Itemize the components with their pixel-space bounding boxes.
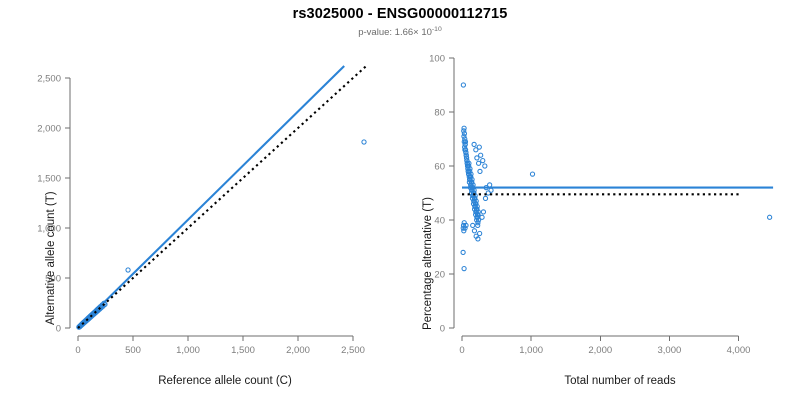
x-tick-label: 2,000 (286, 345, 310, 356)
scatter-points (77, 140, 366, 329)
left-x-axis-title: Reference allele count (C) (60, 375, 390, 387)
data-point (480, 215, 484, 219)
data-point (489, 188, 493, 192)
y-tick-label: 80 (434, 108, 445, 119)
left-panel: 05001,0001,5002,0002,50005001,0001,5002,… (0, 40, 400, 400)
figure-root: rs3025000 - ENSG00000112715 p-value: 1.6… (0, 0, 800, 400)
fit-line (78, 66, 344, 328)
pvalue-exponent: -10 (432, 26, 442, 33)
x-tick-label: 3,000 (658, 345, 682, 356)
data-point (462, 126, 466, 130)
y-tick-label: 100 (429, 54, 445, 65)
data-point (530, 172, 534, 176)
data-point (472, 142, 476, 146)
data-point (476, 223, 480, 227)
data-point (488, 183, 492, 187)
x-tick-label: 1,000 (519, 345, 543, 356)
pvalue-subtitle: p-value: 1.66× 10-10 (0, 27, 800, 38)
data-point (483, 196, 487, 200)
y-tick-label: 2,000 (37, 124, 61, 135)
data-point (481, 159, 485, 163)
data-point (483, 164, 487, 168)
x-tick-label: 1,000 (176, 345, 200, 356)
reference-line (78, 66, 366, 328)
left-panel-plot: 05001,0001,5002,0002,50005001,0001,5002,… (0, 40, 400, 400)
data-point (471, 223, 475, 227)
data-point (362, 140, 366, 144)
right-panel: 01,0002,0003,0004,000020406080100 Total … (400, 40, 800, 400)
y-tick-label: 60 (434, 162, 445, 173)
page-title: rs3025000 - ENSG00000112715 (0, 6, 800, 22)
x-tick-label: 4,000 (727, 345, 751, 356)
data-point (768, 215, 772, 219)
y-tick-label: 2,500 (37, 74, 61, 85)
y-tick-label: 0 (56, 324, 61, 335)
right-x-axis-title: Total number of reads (450, 375, 790, 387)
data-point (478, 231, 482, 235)
data-point (474, 148, 478, 152)
left-y-axis-title: Alternative allele count (T) (45, 191, 57, 325)
scatter-points (461, 83, 772, 271)
data-point (479, 153, 483, 157)
pvalue-text: p-value: 1.66× 10 (358, 27, 432, 38)
x-tick-label: 500 (125, 345, 141, 356)
data-point (478, 169, 482, 173)
data-point (472, 229, 476, 233)
data-point (461, 250, 465, 254)
x-tick-label: 1,500 (231, 345, 255, 356)
x-tick-label: 2,000 (588, 345, 612, 356)
data-point (461, 83, 465, 87)
data-point (476, 161, 480, 165)
data-point (475, 156, 479, 160)
y-tick-label: 0 (440, 324, 445, 335)
right-panel-plot: 01,0002,0003,0004,000020406080100 (400, 40, 800, 400)
y-tick-label: 20 (434, 270, 445, 281)
x-tick-label: 0 (75, 345, 80, 356)
y-tick-label: 1,500 (37, 174, 61, 185)
data-point (126, 268, 130, 272)
x-tick-label: 2,500 (341, 345, 365, 356)
y-tick-label: 40 (434, 216, 445, 227)
x-tick-label: 0 (459, 345, 464, 356)
data-point (462, 267, 466, 271)
right-y-axis-title: Percentage alternative (T) (422, 197, 434, 330)
data-point (481, 210, 485, 214)
